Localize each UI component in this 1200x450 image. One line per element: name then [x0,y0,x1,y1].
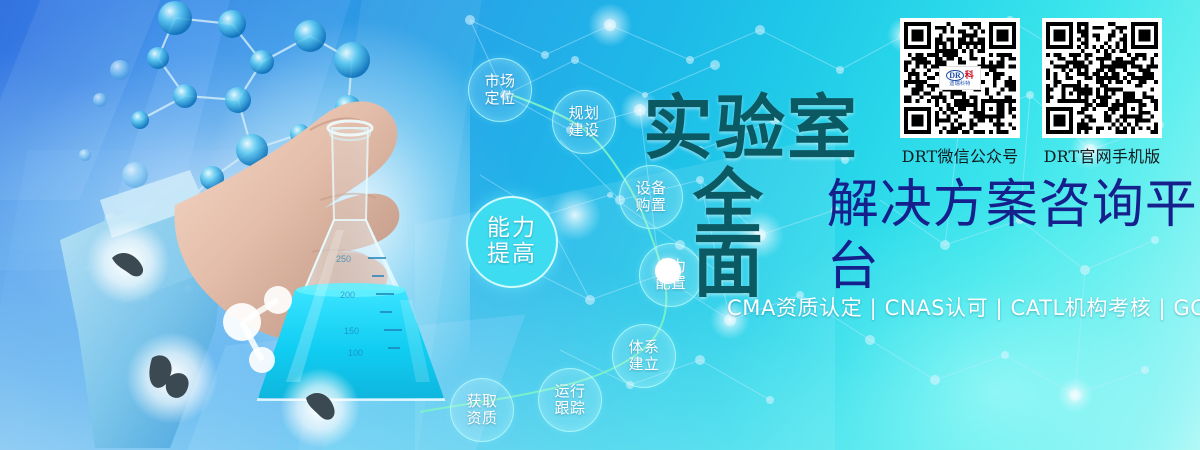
bubble-line-2: 建立 [628,356,659,373]
bubble-line-2: 提高 [487,242,537,268]
bubble-line-1: 运行 [554,383,585,400]
qr-label-website: DRT官网手机版 [1044,143,1161,167]
logo-company-name: 迪瑞科特 [949,81,970,87]
headline-line-2: 全面 解决方案咨询平台 [643,170,1200,298]
bubble-line-1: 获取 [466,393,497,410]
bubble-system-establishment[interactable]: 体系 建立 [612,324,676,388]
logo-marks: DR 科 [946,70,974,81]
bubble-line-2: 跟踪 [554,400,585,417]
bullet-dot-icon [655,258,681,284]
qr-code-image [1046,22,1158,134]
brand-logo-icon: DR 科 迪瑞科特 [939,66,981,90]
bubble-operation-tracking[interactable]: 运行 跟踪 [538,368,602,432]
qr-label-wechat: DRT微信公众号 [902,143,1019,167]
bubble-planning-construction[interactable]: 规划 建设 [552,90,616,154]
bubble-capability-improvement[interactable]: 能力 提高 [466,196,558,288]
bubble-market-positioning[interactable]: 市场 定位 [468,58,532,122]
qr-code-mobile-website[interactable] [1042,18,1162,138]
svg-text:250: 250 [336,254,351,264]
qr-block-wechat[interactable]: DR 科 迪瑞科特 DRT微信公众号 [900,18,1020,167]
bubble-line-1: 规划 [568,105,599,122]
svg-text:100: 100 [348,348,363,358]
qr-code-wechat-official-account[interactable]: DR 科 迪瑞科特 [900,18,1020,138]
bubble-line-2: 定位 [484,90,515,107]
laboratory-solution-banner: 250 200 150 100 市场 定位 [0,0,1200,450]
qr-code-group: DR 科 迪瑞科特 DRT微信公众号 DRT官网手机版 [900,18,1162,167]
svg-text:150: 150 [344,326,359,336]
logo-mark-red: 科 [965,71,974,80]
bubble-obtain-qualification[interactable]: 获取 资质 [450,378,514,442]
qr-block-website[interactable]: DRT官网手机版 [1042,18,1162,167]
bubble-line-1: 市场 [484,73,515,90]
bubble-line-1: 体系 [628,339,659,356]
bubble-line-2: 资质 [466,410,497,427]
headline-emphasis: 全面 [693,170,821,298]
logo-mark-blue: DR [946,70,964,81]
headline-subject: 解决方案咨询平台 [827,174,1200,298]
hand-flask-illustration: 250 200 150 100 [0,0,470,450]
bubble-line-1: 能力 [487,216,537,242]
certification-list: CMA资质认定 | CNAS认可 | CATL机构考核 | GCP认证 | 6S… [727,292,1200,322]
svg-text:200: 200 [340,290,355,300]
bubble-line-2: 建设 [568,122,599,139]
